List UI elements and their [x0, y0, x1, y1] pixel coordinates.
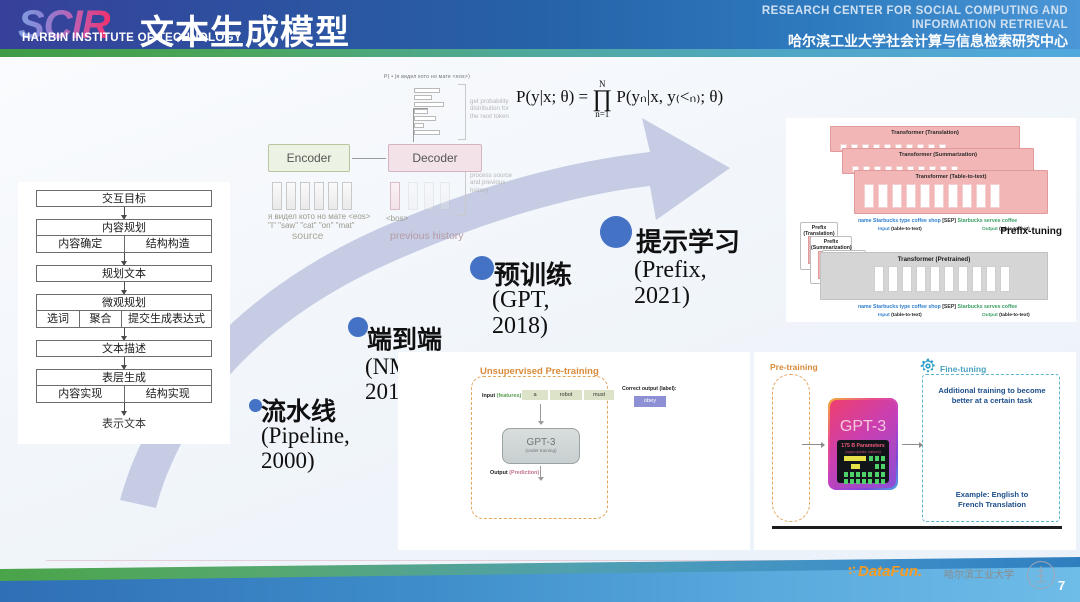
center-name-chinese: 哈尔滨工业大学社会计算与信息检索研究中心	[648, 31, 1068, 51]
flow-step-3-sub-1: 聚合	[79, 311, 121, 327]
chip-cell	[875, 456, 879, 461]
encoder-decoder-figure: P( • |я видел кото но мате <eos>) get pr…	[262, 72, 512, 242]
history-token-1	[408, 182, 418, 210]
flow-step-5-sub-0: 内容实现	[37, 386, 124, 402]
flow-step-1: 内容规划 内容确定 结构构造	[36, 219, 212, 253]
top-sequence-output: Starbucks serves coffee	[958, 218, 1018, 224]
milestone-pretraining-label-en: (GPT, 2018)	[492, 288, 550, 340]
chip-cell	[869, 456, 873, 461]
center-name-english-line2: INFORMATION RETRIEVAL	[648, 19, 1068, 33]
milestone-prompt-learning-label-cn: 提示学习	[636, 222, 740, 259]
formula-rhs: P(yₙ|x, y₍<ₙ₎; θ)	[616, 87, 723, 106]
prob-bar-6	[414, 130, 440, 135]
center-name-english: RESEARCH CENTER FOR SOCIAL COMPUTING AND…	[648, 5, 1068, 32]
flow-step-3: 微观规划 选词 聚合 提交生成表达式	[36, 294, 212, 328]
gpt3-params-sub: (appropriate values)	[837, 449, 889, 454]
pipeline-flowchart-panel: 交互目标 内容规划 内容确定 结构构造 规划文本 微观规划 选词 聚合 提交生成…	[18, 182, 230, 444]
source-token-3	[314, 182, 324, 210]
prob-bar-0	[414, 88, 440, 93]
history-token-bos	[390, 182, 400, 210]
flow-step-5-sub-1: 结构实现	[124, 386, 212, 402]
chip-cell	[868, 472, 872, 477]
correct-output-value: obey	[634, 396, 666, 407]
slot	[962, 184, 972, 208]
source-token-2	[300, 182, 310, 210]
slot	[976, 184, 986, 208]
unsupervised-input-label: Input (features)	[482, 393, 521, 399]
prob-bar-1	[414, 95, 432, 100]
flow-connector-4	[124, 357, 125, 369]
chip-cell	[881, 464, 885, 469]
flow-step-1-label: 内容规划	[36, 219, 212, 236]
generation-probability-formula: P(y|x; θ) = N ∏ n=1 P(yₙ|x, y₍<ₙ₎; θ)	[516, 78, 723, 118]
output-label-word: Output	[490, 470, 508, 476]
chip-cell	[881, 472, 885, 477]
bottom-sequence-output: Starbucks serves coffee	[958, 304, 1018, 310]
slot	[944, 266, 954, 292]
decoder-box: Decoder	[388, 144, 482, 172]
gpt3-card: GPT-3 175 B Parameters (appropriate valu…	[828, 398, 898, 490]
slot	[990, 184, 1000, 208]
top-sequence-sep: [SEP]	[942, 218, 956, 224]
flow-final-label: 表示文本	[36, 415, 212, 431]
slide-canvas: SCIR 文本生成模型 RESEARCH CENTER FOR SOCIAL C…	[0, 0, 1080, 602]
footer-institute-cn: 哈尔滨工业大学	[944, 566, 1014, 581]
gpt3-model-name: GPT-3	[503, 437, 579, 448]
unsup-arrow-down-1	[540, 404, 541, 424]
source-tokens-en: "I" "saw" "cat" "on" "mat"	[268, 221, 355, 230]
flow-step-1-substeps: 内容确定 结构构造	[36, 236, 212, 253]
bos-token-label: <bos>	[386, 214, 408, 223]
gpt3-card-title: GPT-3	[830, 418, 896, 436]
pretraining-dashed-box	[772, 374, 810, 522]
gpt3-chip: 175 B Parameters (appropriate values)	[837, 440, 889, 483]
source-tokens-ru: я видел кото но мате <eos>	[268, 212, 370, 221]
page-title: 文本生成模型	[140, 5, 350, 54]
chip-cell	[868, 479, 872, 484]
slot	[948, 184, 958, 208]
encoder-decoder-link	[352, 158, 386, 159]
flow-step-4: 文本描述	[36, 340, 212, 357]
chip-cell	[875, 472, 879, 477]
decoder-to-dist-line	[413, 108, 414, 142]
source-caption: source	[292, 230, 324, 242]
encoder-box: Encoder	[268, 144, 350, 172]
center-name-english-line1: RESEARCH CENTER FOR SOCIAL COMPUTING AND	[648, 5, 1068, 19]
top-sequence: name Starbucks type coffee shop [SEP] St…	[858, 218, 1017, 224]
flow-step-4-label: 文本描述	[36, 340, 212, 357]
chip-cell	[875, 464, 879, 469]
flow-step-2-label: 规划文本	[36, 265, 212, 282]
slot	[902, 266, 912, 292]
top-io-input-word: Input	[878, 227, 890, 232]
flow-step-0-label: 交互目标	[36, 190, 212, 207]
flow-connector-1	[124, 253, 125, 265]
chip-cell	[862, 479, 866, 484]
pretraining-finetuning-figure: Pre-training Fine-tuning GPT-3 175 B Par…	[754, 352, 1076, 550]
slot	[1000, 266, 1010, 292]
note-process-source: process source and previous history	[470, 172, 518, 194]
bracket-top	[458, 84, 466, 140]
bottom-io-output-task: (table-to-text)	[999, 313, 1030, 318]
prefix-tuning-figure: Transformer (Translation) Transformer (S…	[786, 118, 1076, 322]
input-label-word: Input	[482, 393, 495, 399]
source-token-4	[328, 182, 338, 210]
flow-step-1-sub-1: 结构构造	[124, 236, 212, 252]
bottom-io-input-task: (table-to-text)	[891, 313, 922, 318]
chip-cell	[856, 479, 860, 484]
slot	[916, 266, 926, 292]
gpt3-model-sub: (under training)	[503, 448, 579, 453]
prob-bar-5	[414, 123, 424, 128]
chip-cell	[862, 472, 866, 477]
chip-cell	[844, 479, 848, 484]
slot	[958, 266, 968, 292]
unsupervised-output-label: Output (Prediction)	[490, 470, 539, 476]
slot	[934, 184, 944, 208]
arrow-pretrain-to-model	[802, 444, 824, 445]
transformer-pretrained-slots	[874, 266, 1010, 292]
unsup-token-0: a	[522, 390, 548, 400]
chip-cell	[881, 456, 885, 461]
flow-connector-2	[124, 282, 125, 294]
chip-cell	[881, 479, 885, 484]
slot	[878, 184, 888, 208]
page-number: 7	[1058, 578, 1065, 593]
flow-step-5: 表层生成 内容实现 结构实现	[36, 369, 212, 403]
flow-step-0: 交互目标	[36, 190, 212, 207]
prob-bar-2	[414, 102, 444, 107]
milestone-end-to-end-label-cn: 端到端	[367, 320, 442, 356]
slot	[930, 266, 940, 292]
slot	[920, 184, 930, 208]
top-io-input-task: (table-to-text)	[891, 227, 922, 232]
flow-connector-3	[124, 328, 125, 340]
flow-connector-0	[124, 207, 125, 219]
finetuning-description: Additional training to become better at …	[928, 386, 1056, 406]
bottom-io-output: Output (table-to-text)	[982, 313, 1030, 318]
milestone-end-to-end-dot	[348, 317, 368, 337]
prob-bar-4	[414, 116, 436, 121]
hit-seal-icon	[1026, 560, 1056, 590]
flow-step-3-label: 微观规划	[36, 294, 212, 311]
finetuning-example: Example: English to French Translation	[928, 490, 1056, 510]
flow-step-5-substeps: 内容实现 结构实现	[36, 386, 212, 403]
flow-step-1-sub-0: 内容确定	[37, 236, 124, 252]
milestone-prompt-learning-label-en: (Prefix, 2021)	[634, 258, 707, 310]
unsup-token-1: robot	[550, 390, 582, 400]
milestone-pretraining-dot	[470, 256, 494, 280]
flow-step-2: 规划文本	[36, 265, 212, 282]
source-token-1	[286, 182, 296, 210]
unsupervised-pretraining-figure: Unsupervised Pre-training Input (feature…	[398, 352, 750, 550]
prefix-tuning-title: Prefix-tuning	[1000, 226, 1062, 237]
chip-cell	[844, 456, 866, 461]
prob-pointer-line	[414, 108, 428, 109]
datafun-logo: DataFun.	[858, 563, 922, 580]
slot	[874, 266, 884, 292]
chip-cell	[850, 472, 854, 477]
chip-cell	[844, 472, 848, 477]
gpt3-card-inner: GPT-3 175 B Parameters (appropriate valu…	[830, 400, 896, 488]
slot	[906, 184, 916, 208]
datafun-dots-icon	[848, 566, 858, 576]
note-next-token: get probability distribution for the nex…	[470, 98, 518, 120]
finetuning-label: Fine-tuning	[940, 364, 986, 374]
top-io-output-word: Output	[982, 227, 998, 232]
top-io-input: Input (table-to-text)	[878, 227, 922, 232]
history-caption: previous history	[390, 230, 464, 242]
arrow-model-to-finetune	[902, 444, 922, 445]
transformer-table-to-text-slots	[864, 184, 1000, 208]
prob-bar-3	[414, 109, 428, 114]
formula-prod-glyph: ∏	[592, 89, 612, 109]
pretraining-label: Pre-training	[770, 362, 818, 372]
milestone-prompt-learning-dot	[600, 216, 632, 248]
milestone-pipeline-label-en: (Pipeline, 2000)	[261, 424, 350, 474]
gpt3-training-box: GPT-3 (under training)	[502, 428, 580, 464]
flow-step-3-sub-2: 提交生成表达式	[121, 311, 211, 327]
formula-lhs: P(y|x; θ) =	[516, 87, 588, 106]
formula-product-operator: N ∏ n=1	[592, 79, 612, 119]
bottom-sequence-sep: [SEP]	[942, 304, 956, 310]
correct-output-label: Correct output (label):	[622, 386, 676, 392]
input-label-paren: (features)	[497, 393, 522, 399]
bottom-io-input: Input (table-to-text)	[878, 313, 922, 318]
probability-line: P( • |я видел кото но мате <eos>)	[384, 74, 470, 80]
history-token-3	[440, 182, 450, 210]
flow-connector-5	[124, 403, 125, 415]
chip-cell	[856, 472, 860, 477]
source-token-0	[272, 182, 282, 210]
slot	[972, 266, 982, 292]
flow-step-3-substeps: 选词 聚合 提交生成表达式	[36, 311, 212, 328]
bottom-sequence-input: name Starbucks type coffee shop	[858, 304, 941, 310]
bottom-sequence: name Starbucks type coffee shop [SEP] St…	[858, 304, 1017, 310]
unsup-token-2: must	[584, 390, 614, 400]
figure-baseline	[772, 526, 1062, 529]
unsup-arrow-down-2	[540, 466, 541, 480]
slot	[864, 184, 874, 208]
bottom-io-output-word: Output	[982, 313, 998, 318]
top-sequence-input: name Starbucks type coffee shop	[858, 218, 941, 224]
chip-cell	[851, 464, 860, 469]
output-label-paren: (Prediction)	[509, 470, 539, 476]
flow-step-5-label: 表层生成	[36, 369, 212, 386]
formula-lower-limit: n=1	[592, 109, 612, 119]
history-token-2	[424, 182, 434, 210]
footer-institute-en: HARBIN INSTITUTE OF TECHNOLOGY	[22, 32, 242, 44]
gear-icon	[920, 358, 936, 374]
bottom-io-input-word: Input	[878, 313, 890, 318]
flow-step-3-sub-0: 选词	[37, 311, 79, 327]
chip-cell	[875, 479, 879, 484]
slot	[888, 266, 898, 292]
slot	[892, 184, 902, 208]
chip-cell	[850, 479, 854, 484]
source-token-5	[342, 182, 352, 210]
slot	[986, 266, 996, 292]
